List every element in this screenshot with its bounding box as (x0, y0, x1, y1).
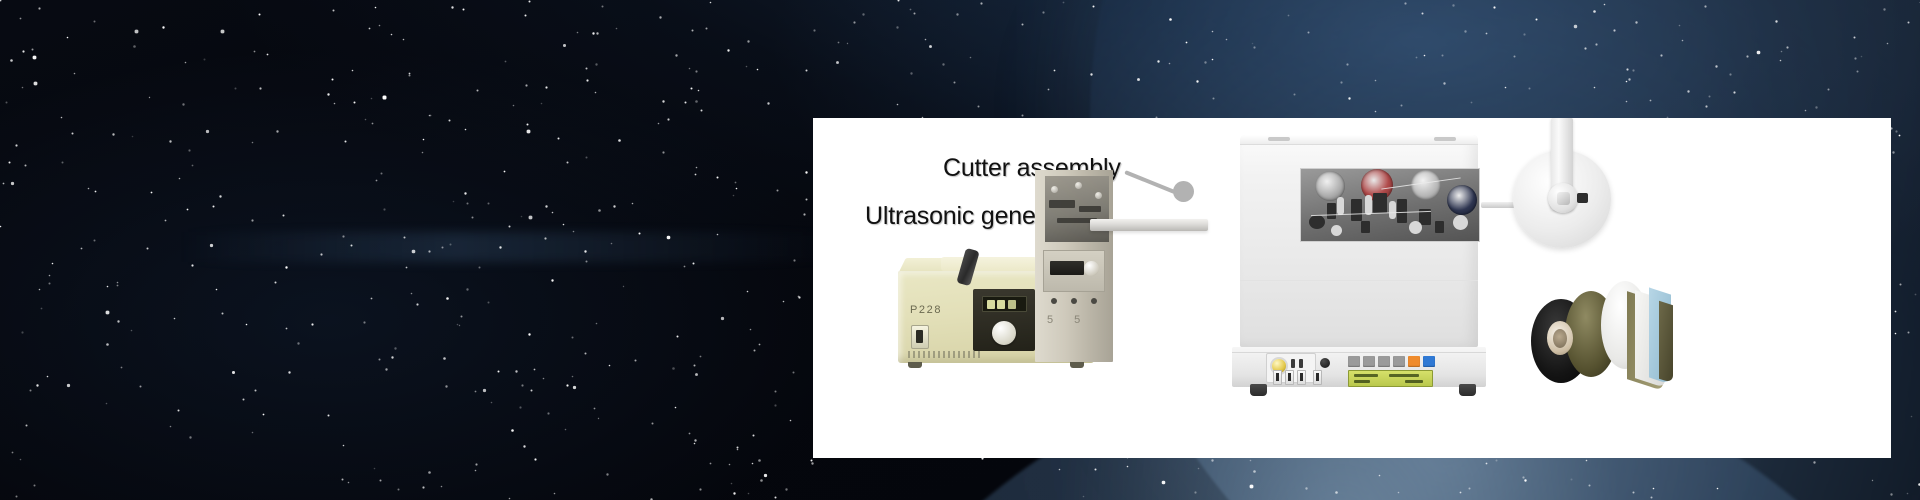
generator-vent-grille (908, 351, 980, 358)
machine-foot (1459, 384, 1476, 396)
mech-bar (1049, 200, 1075, 208)
nebula-streak (180, 232, 840, 262)
mech-bolt (1095, 192, 1102, 199)
display-digit (997, 300, 1005, 309)
generator-model-label: P228 (910, 304, 942, 316)
window-roller (1409, 221, 1422, 234)
window-spindle (1337, 197, 1344, 215)
reel-axle-stub (1577, 193, 1588, 203)
inspection-window (1300, 168, 1480, 242)
tape-roll-group (1531, 273, 1691, 388)
operator-control-panel (1266, 352, 1464, 382)
mech-bolt (1051, 186, 1058, 193)
machine-illustration: P228 (813, 118, 1891, 458)
toggle-switch[interactable] (1285, 370, 1294, 385)
lcd-display (1348, 370, 1433, 387)
feeder-tower-panel (1043, 250, 1105, 292)
mode-selector-group[interactable] (1266, 353, 1316, 383)
window-component (1309, 215, 1325, 229)
window-component (1373, 193, 1387, 213)
button-orange[interactable] (1408, 356, 1420, 367)
machine-foot (1250, 384, 1267, 396)
material-guide-arm (1090, 219, 1208, 231)
generator-rotary-knob[interactable] (992, 321, 1016, 345)
button-blue[interactable] (1423, 356, 1435, 367)
generator-top-plate (941, 257, 1037, 271)
emergency-stop-button[interactable] (1320, 358, 1330, 368)
button-gray-3[interactable] (1378, 356, 1390, 367)
main-housing (1240, 135, 1478, 347)
mech-bar (1079, 206, 1101, 212)
mech-bolt (1075, 182, 1082, 189)
window-roller (1331, 225, 1342, 236)
housing-hinge (1268, 137, 1290, 141)
toggle-switch[interactable] (1273, 370, 1282, 385)
toggle-switch[interactable] (1313, 370, 1322, 385)
ribbon-dark-edge (1659, 301, 1673, 384)
button-gray-4[interactable] (1393, 356, 1405, 367)
generator-foot (1070, 362, 1084, 368)
lcd-text-line (1405, 380, 1423, 383)
window-spindle (1389, 201, 1396, 219)
tower-label-plate (1050, 261, 1084, 275)
housing-seam (1240, 280, 1478, 281)
generator-control-panel (973, 289, 1035, 351)
generator-digital-display (982, 296, 1027, 312)
product-photo-panel: Cutter assembly Ultrasonic generator P22… (813, 118, 1891, 458)
generator-foot (908, 362, 922, 368)
window-reel-dark (1447, 185, 1477, 215)
housing-hinge (1434, 137, 1456, 141)
lcd-text-line (1354, 374, 1378, 377)
button-gray-2[interactable] (1363, 356, 1375, 367)
lcd-text-line (1389, 374, 1419, 377)
display-digit (987, 300, 995, 309)
display-digit (1008, 300, 1016, 309)
window-component (1327, 203, 1336, 219)
tower-scale-markings: 5 5 (1047, 314, 1089, 326)
window-roller (1453, 215, 1468, 230)
window-reel (1411, 170, 1441, 200)
lcd-text-line (1354, 380, 1370, 383)
window-component (1435, 221, 1444, 233)
toggle-switch-row[interactable] (1269, 370, 1327, 383)
window-component (1351, 199, 1362, 221)
indicator-led (1299, 359, 1303, 368)
reel-lock-nut[interactable] (1557, 192, 1570, 205)
keypad-button-row[interactable] (1348, 356, 1435, 367)
tape-roll-core-hole (1553, 329, 1567, 348)
indicator-led (1291, 359, 1295, 368)
toggle-switch[interactable] (1297, 370, 1306, 385)
tower-adjust-knob[interactable] (1084, 261, 1099, 276)
banner-stage: Cutter assembly Ultrasonic generator P22… (0, 0, 1920, 500)
button-gray-1[interactable] (1348, 356, 1360, 367)
window-component (1361, 221, 1370, 233)
feeder-tower-mechanism (1045, 176, 1109, 242)
generator-power-switch[interactable] (911, 325, 929, 349)
